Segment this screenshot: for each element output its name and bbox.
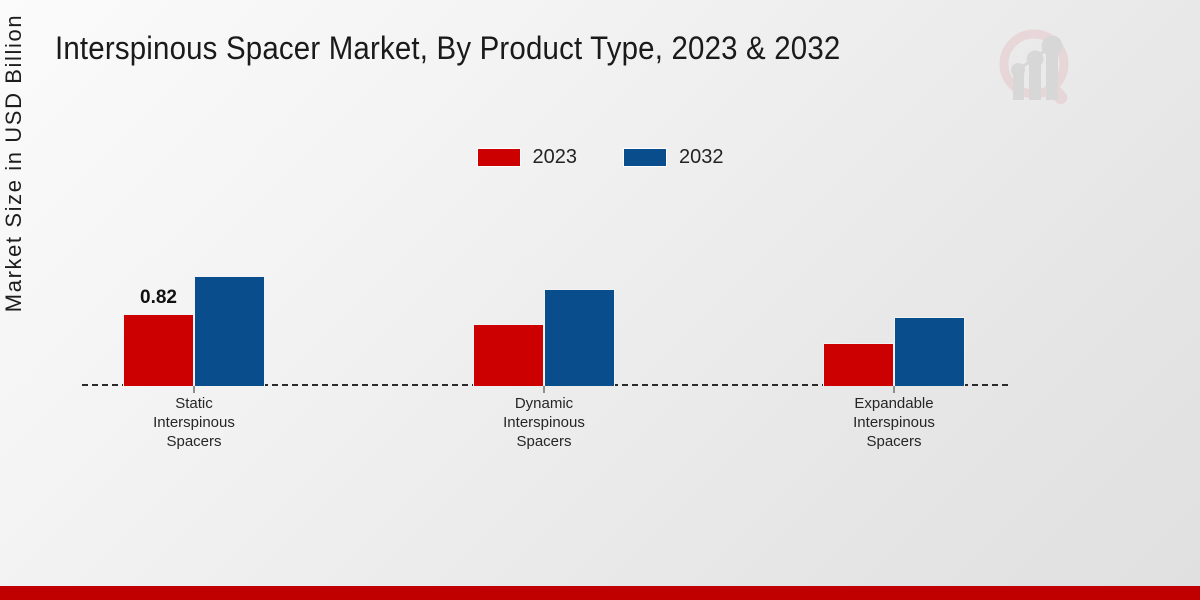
category-label-line-2: Interspinous — [804, 413, 984, 432]
category-label-line-3: Spacers — [804, 432, 984, 451]
legend-item-2032[interactable]: 2032 — [623, 146, 724, 169]
bar-value-2023-static: 0.82 — [140, 287, 177, 309]
category-label-static: Static Interspinous Spacers — [104, 394, 284, 451]
legend-swatch-2032 — [623, 148, 667, 167]
legend-label-2032: 2032 — [679, 146, 724, 169]
category-label-line-2: Interspinous — [104, 413, 284, 432]
legend-swatch-2023 — [477, 148, 521, 167]
bar-group-expandable: Expandable Interspinous Spacers — [823, 190, 965, 386]
x-axis-tick-static — [193, 386, 195, 393]
y-axis-label: Market Size in USD Billion — [1, 0, 27, 343]
bar-2032-static[interactable] — [194, 276, 265, 386]
bottom-accent-bar — [0, 586, 1200, 600]
bar-2023-expandable[interactable] — [823, 343, 894, 386]
x-axis-tick-dynamic — [543, 386, 545, 393]
plot-area: 0.82 Static Interspinous Spacers Dynamic… — [82, 190, 1008, 386]
bar-2023-static[interactable]: 0.82 — [123, 314, 194, 386]
category-label-line-1: Static — [104, 394, 284, 413]
legend-label-2023: 2023 — [533, 146, 578, 169]
legend-item-2023[interactable]: 2023 — [477, 146, 578, 169]
bar-2032-expandable[interactable] — [894, 317, 965, 386]
chart-legend: 2023 2032 — [0, 146, 1200, 169]
category-label-line-1: Dynamic — [454, 394, 634, 413]
category-label-line-2: Interspinous — [454, 413, 634, 432]
bar-2023-dynamic[interactable] — [473, 324, 544, 386]
category-label-line-3: Spacers — [104, 432, 284, 451]
category-label-line-1: Expandable — [804, 394, 984, 413]
bar-group-dynamic: Dynamic Interspinous Spacers — [473, 190, 615, 386]
page-title: Interspinous Spacer Market, By Product T… — [55, 30, 840, 67]
bar-2032-dynamic[interactable] — [544, 289, 615, 386]
category-label-expandable: Expandable Interspinous Spacers — [804, 394, 984, 451]
category-label-line-3: Spacers — [454, 432, 634, 451]
watermark-logo-icon — [990, 22, 1082, 114]
chart-canvas: Interspinous Spacer Market, By Product T… — [0, 0, 1200, 600]
bar-group-static: 0.82 Static Interspinous Spacers — [123, 190, 265, 386]
x-axis-tick-expandable — [893, 386, 895, 393]
category-label-dynamic: Dynamic Interspinous Spacers — [454, 394, 634, 451]
